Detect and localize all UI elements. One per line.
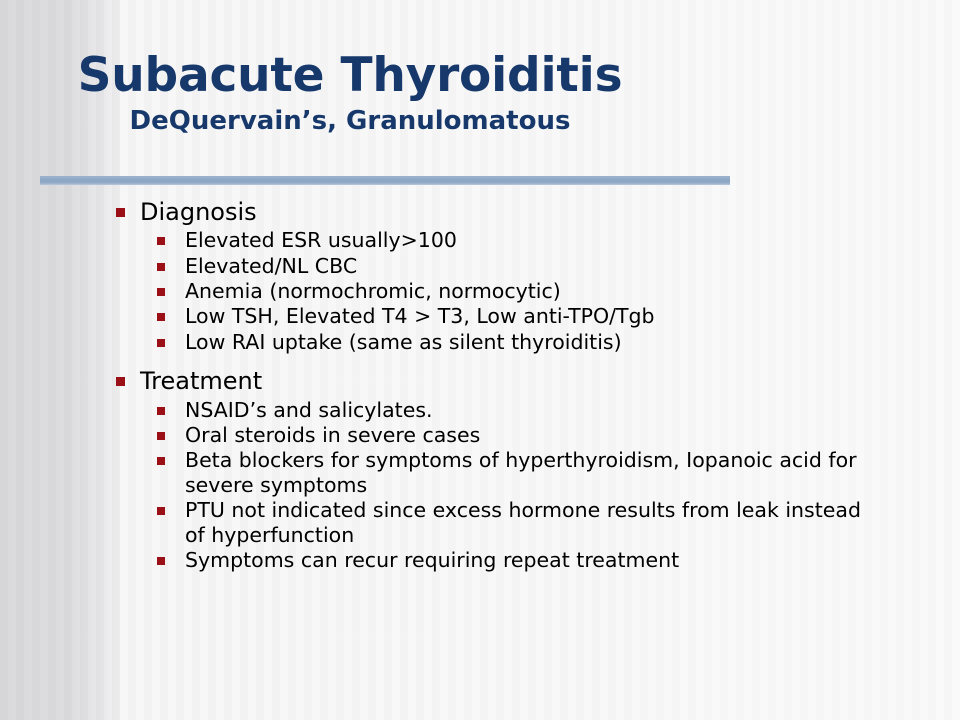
- list-item-label: Beta blockers for symptoms of hyperthyro…: [185, 448, 875, 497]
- bullet-square-icon: [116, 377, 125, 386]
- list-item: Anemia (normochromic, normocytic): [110, 279, 950, 303]
- section-heading-label: Diagnosis: [140, 198, 257, 226]
- title-block: Subacute Thyroiditis DeQuervain’s, Granu…: [0, 52, 700, 135]
- slide-subtitle: DeQuervain’s, Granulomatous: [0, 107, 700, 136]
- section-diagnosis: Diagnosis Elevated ESR usually>100 Eleva…: [110, 198, 950, 354]
- bullet-square-icon: [157, 457, 165, 465]
- slide-content: Subacute Thyroiditis DeQuervain’s, Granu…: [0, 0, 960, 720]
- list-item: NSAID’s and salicylates.: [110, 398, 950, 422]
- bullet-square-icon: [157, 237, 165, 245]
- list-item-label: Symptoms can recur requiring repeat trea…: [185, 548, 679, 572]
- list-item-label: PTU not indicated since excess hormone r…: [185, 498, 875, 547]
- section-treatment: Treatment NSAID’s and salicylates. Oral …: [110, 367, 950, 572]
- list-item: Low TSH, Elevated T4 > T3, Low anti-TPO/…: [110, 304, 950, 328]
- sublist-diagnosis: Elevated ESR usually>100 Elevated/NL CBC…: [110, 228, 950, 354]
- bullet-square-icon: [157, 432, 165, 440]
- bullet-square-icon: [157, 507, 165, 515]
- list-item-label: Elevated/NL CBC: [185, 254, 357, 278]
- bullet-square-icon: [157, 288, 165, 296]
- list-item: Elevated ESR usually>100: [110, 228, 950, 252]
- bullet-square-icon: [116, 208, 125, 217]
- list-item: PTU not indicated since excess hormone r…: [110, 498, 950, 547]
- presentation-slide: Subacute Thyroiditis DeQuervain’s, Granu…: [0, 0, 960, 720]
- section-heading-label: Treatment: [140, 367, 262, 395]
- list-item-label: Anemia (normochromic, normocytic): [185, 279, 561, 303]
- list-item-label: NSAID’s and salicylates.: [185, 398, 433, 422]
- list-item: Oral steroids in severe cases: [110, 423, 950, 447]
- sublist-treatment: NSAID’s and salicylates. Oral steroids i…: [110, 398, 950, 573]
- slide-title: Subacute Thyroiditis: [0, 52, 700, 101]
- list-item-label: Oral steroids in severe cases: [185, 423, 480, 447]
- list-item: Beta blockers for symptoms of hyperthyro…: [110, 448, 950, 497]
- section-heading-diagnosis: Diagnosis: [110, 198, 950, 226]
- bullet-square-icon: [157, 263, 165, 271]
- list-item: Symptoms can recur requiring repeat trea…: [110, 548, 950, 572]
- list-item-label: Low RAI uptake (same as silent thyroidit…: [185, 330, 622, 354]
- title-divider-bar: [40, 176, 730, 185]
- list-item-label: Low TSH, Elevated T4 > T3, Low anti-TPO/…: [185, 304, 655, 328]
- bullet-square-icon: [157, 339, 165, 347]
- section-heading-treatment: Treatment: [110, 367, 950, 395]
- list-item: Low RAI uptake (same as silent thyroidit…: [110, 330, 950, 354]
- bullet-square-icon: [157, 313, 165, 321]
- bullet-square-icon: [157, 557, 165, 565]
- list-item-label: Elevated ESR usually>100: [185, 228, 457, 252]
- list-item: Elevated/NL CBC: [110, 254, 950, 278]
- slide-body-bullet-list: Diagnosis Elevated ESR usually>100 Eleva…: [110, 198, 950, 573]
- bullet-square-icon: [157, 407, 165, 415]
